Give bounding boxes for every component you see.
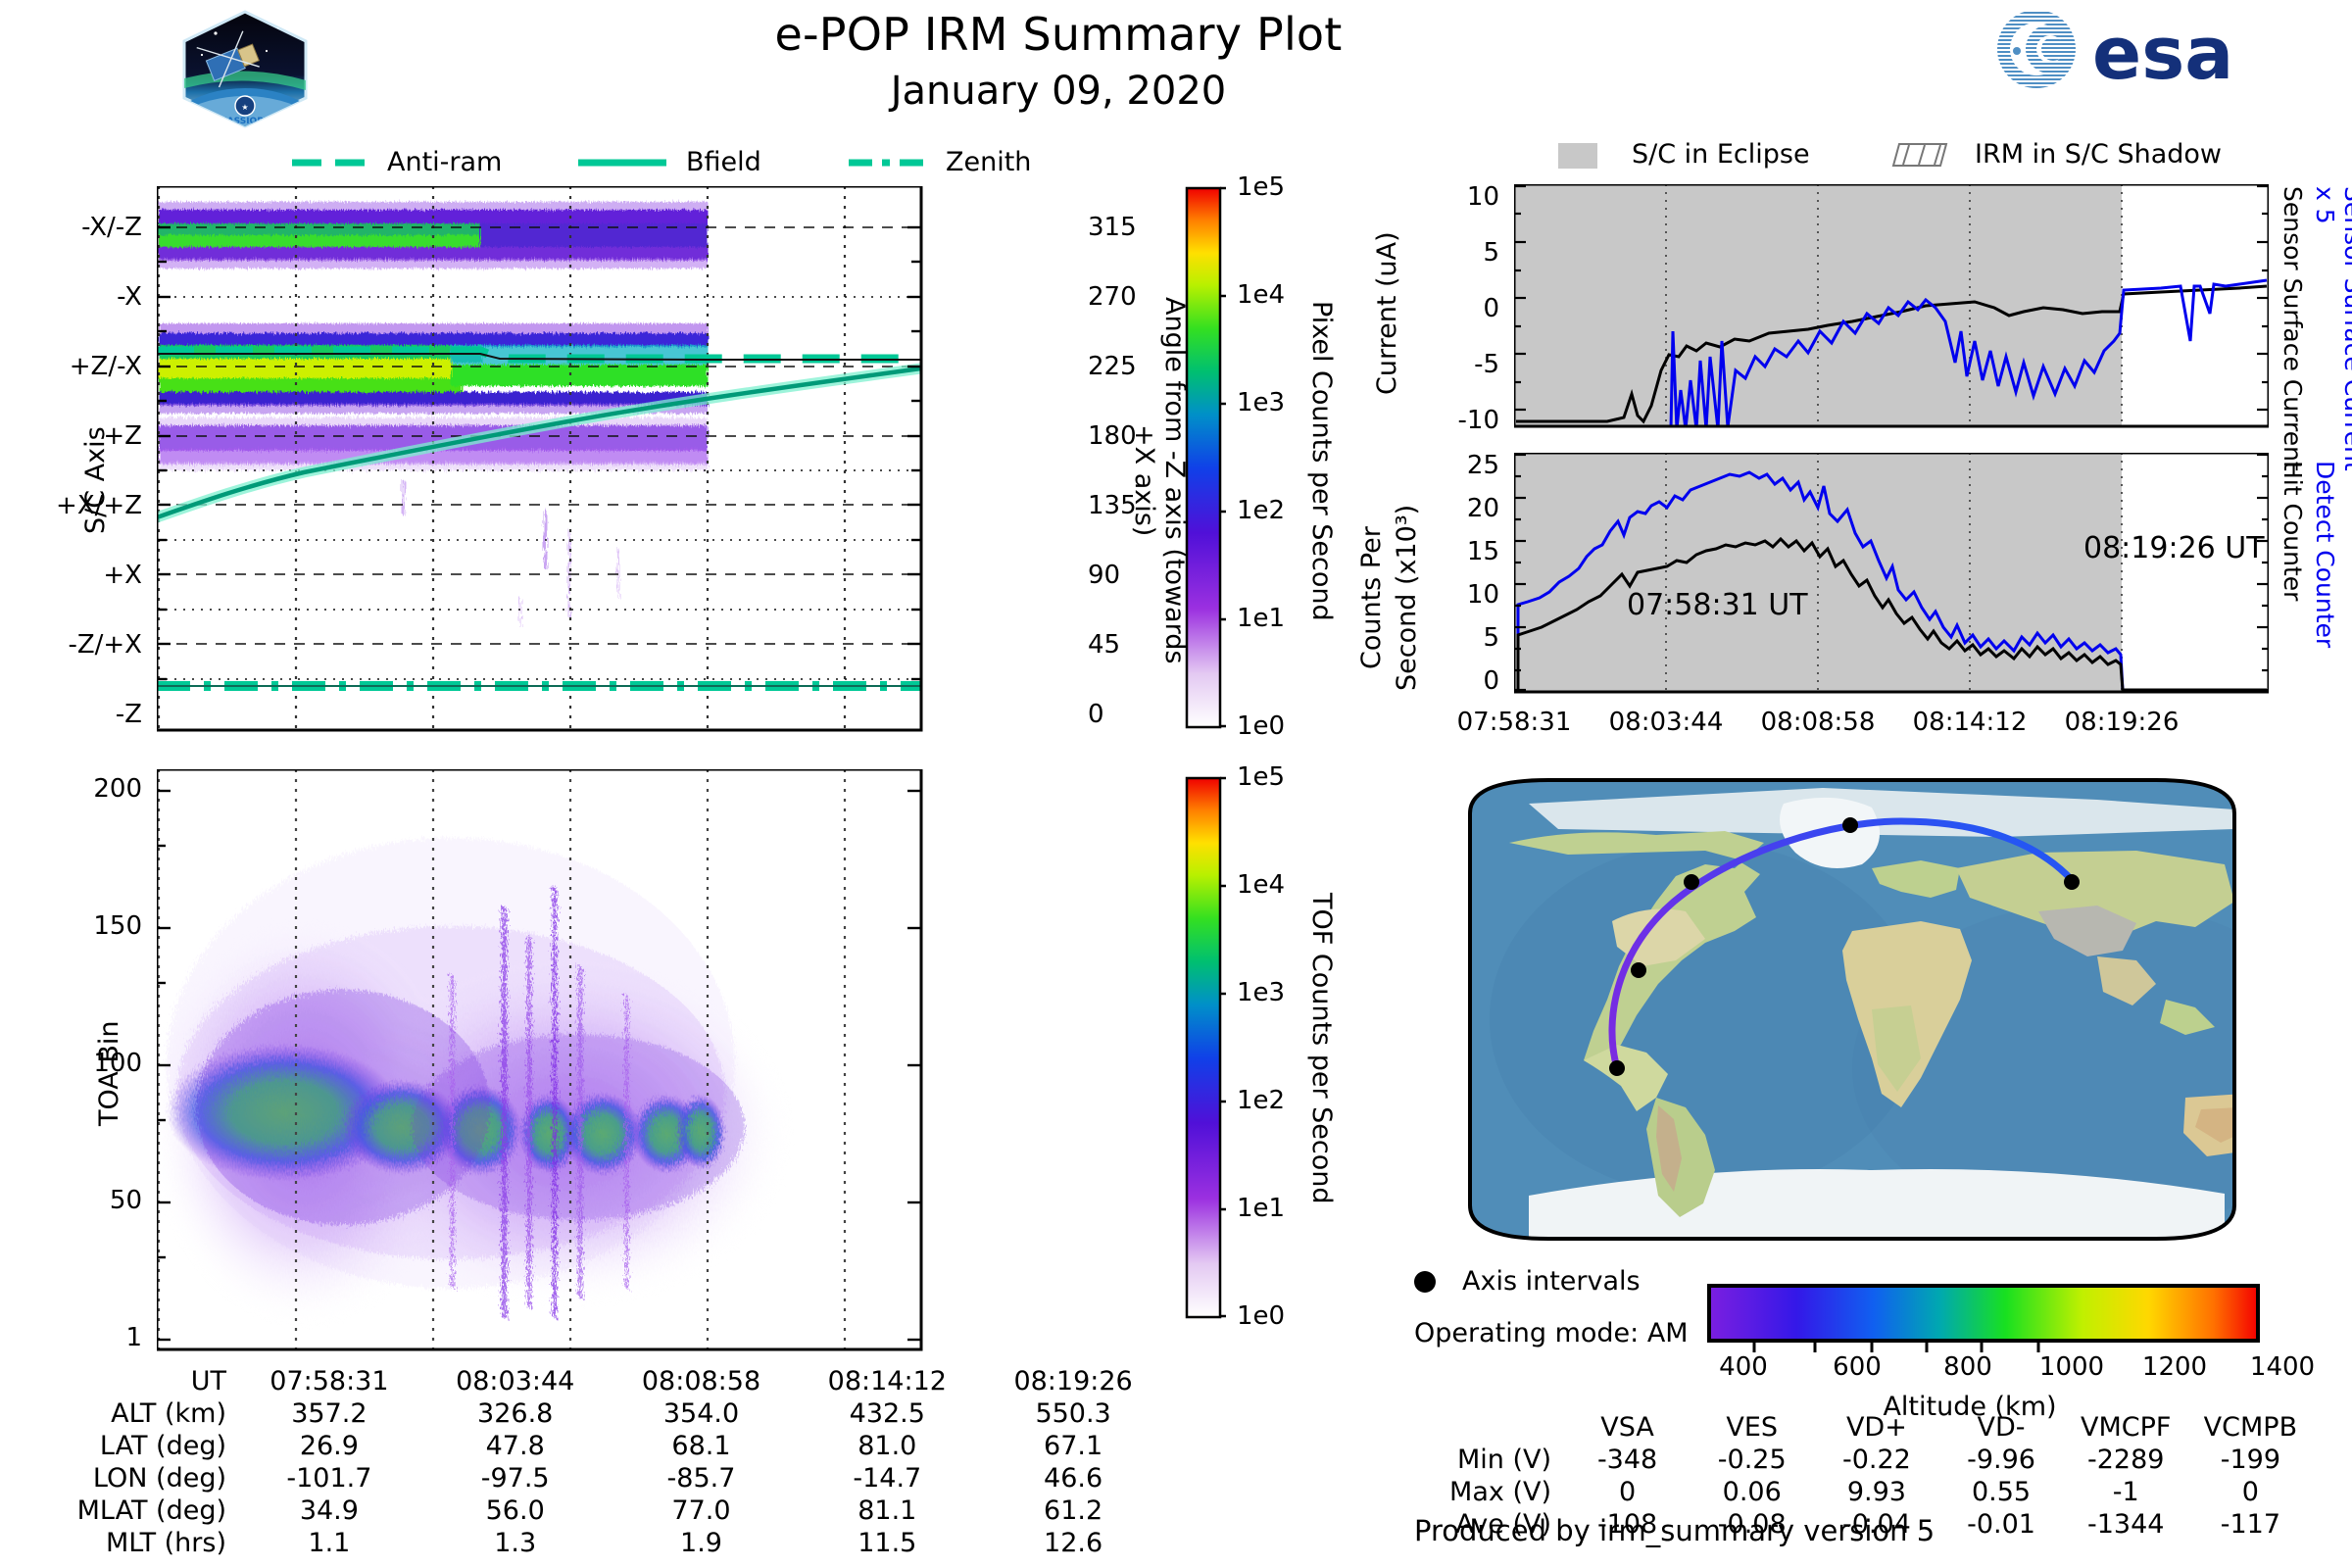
eph-cell: 1.9 [609,1527,795,1559]
operating-mode-label: Operating mode: AM [1414,1318,1689,1348]
voltage-cell: -0.22 [1814,1444,1938,1476]
angle-ytick-2: 225 [1088,352,1137,381]
sc-axis-ylabel: S/C Axis [80,392,116,568]
voltage-cell: 0 [1565,1476,1690,1508]
eph-row-label-1: ALT (km) [29,1397,236,1430]
page-title: e-POP IRM Summary Plot [686,8,1431,61]
table-row: LON (deg) -101.7 -97.5 -85.7 -14.7 46.6 [29,1462,1166,1494]
cb2-tick-3: 1e2 [1237,1086,1285,1115]
toa-ytick-2: 100 [59,1049,142,1078]
sc-axis-ytick-7: -Z [20,700,142,729]
angle-ytick-7: 0 [1088,700,1104,729]
eph-row-label-2: LAT (deg) [29,1430,236,1462]
eph-cell: 47.8 [422,1430,609,1462]
sc-axis-ytick-5: +X [20,561,142,590]
eph-cell: 08:19:26 [980,1365,1166,1397]
voltage-col-5: VCMPB [2188,1411,2313,1444]
sc-axis-spectrogram [157,186,1039,735]
eph-cell: 77.0 [609,1494,795,1527]
voltage-cell: -2289 [2064,1444,2188,1476]
cb2-tick-4: 1e1 [1237,1194,1285,1223]
voltage-cell: 0.06 [1690,1476,1814,1508]
toa-ytick-0: 200 [59,774,142,804]
toa-ytick-3: 50 [59,1186,142,1215]
toa-ytick-1: 150 [59,911,142,941]
voltage-cell: -1344 [2064,1508,2188,1541]
voltage-cell: 0.55 [1938,1476,2063,1508]
surface-current-plot [1514,184,2269,434]
cb1-tick-0: 1e5 [1237,172,1285,202]
sc-axis-ytick-0: -X/-Z [20,213,142,242]
eph-cell: 68.1 [609,1430,795,1462]
track-point [1842,817,1858,833]
eph-cell: 354.0 [609,1397,795,1430]
counts-per-second-plot [1514,453,2269,700]
svg-text:★: ★ [241,103,248,112]
sc-axis-ytick-3: +Z [20,421,142,451]
current-ytick-2: 0 [1431,294,1499,323]
voltage-cell: -0.01 [1938,1508,2063,1541]
page-subtitle-date: January 09, 2020 [686,69,1431,114]
time-tick-4: 08:19:26 [2019,708,2225,737]
current-right-label-black: Sensor Surface Current [2278,186,2307,480]
counts-ytick-2: 15 [1431,537,1499,566]
alt-tick-1: 600 [1803,1352,1911,1382]
axis-intervals-legend-label: Axis intervals [1462,1266,1641,1297]
angle-ytick-0: 315 [1088,213,1137,242]
alt-tick-0: 400 [1690,1352,1797,1382]
current-ytick-3: -5 [1423,350,1499,379]
sc-axis-ytick-6: -Z/+X [20,630,142,660]
cb2-tick-1: 1e4 [1237,870,1285,900]
eph-cell: 08:08:58 [609,1365,795,1397]
alt-tick-4: 1200 [2121,1352,2229,1382]
sc-axis-ytick-2: +Z/-X [20,352,142,381]
cb2-label: TOF Counts per Second [1303,774,1337,1323]
pixel-counts-colorbar [1181,184,1226,733]
voltage-col-3: VD- [1938,1411,2063,1444]
voltage-cell: 9.93 [1814,1476,1938,1508]
table-row: LAT (deg) 26.9 47.8 68.1 81.0 67.1 [29,1430,1166,1462]
voltage-row-label-0: Min (V) [1392,1444,1565,1476]
esa-wordmark: esa [2092,12,2233,94]
counts-ytick-0: 25 [1431,451,1499,480]
eph-row-label-4: MLAT (deg) [29,1494,236,1527]
shadow-swatch [1891,140,1948,170]
voltage-cell: -117 [2188,1508,2313,1541]
eph-cell: 1.1 [236,1527,422,1559]
ephemeris-table: UT 07:58:31 08:03:44 08:08:58 08:14:12 0… [29,1365,1166,1559]
eph-cell: 61.2 [980,1494,1166,1527]
toa-ytick-4: 1 [59,1323,142,1352]
cassiope-logo: ★ CASSIOPE [176,8,314,130]
eph-cell: -14.7 [794,1462,980,1494]
axis-interval-marker-icon [1414,1271,1436,1293]
voltage-cell: -1 [2064,1476,2188,1508]
table-row: MLAT (deg) 34.9 56.0 77.0 81.1 61.2 [29,1494,1166,1527]
current-ytick-4: -10 [1423,406,1499,435]
eph-cell: 1.3 [422,1527,609,1559]
map-start-label: 07:58:31 UT [1627,588,1808,622]
altitude-colorbar [1705,1284,2313,1352]
voltage-col-0: VSA [1565,1411,1690,1444]
counts-ytick-5: 0 [1431,666,1499,696]
table-row: Min (V) -348 -0.25 -0.22 -9.96 -2289 -19… [1392,1444,2313,1476]
legend-label-anti-ram: Anti-ram [387,147,502,177]
voltage-col-4: VMCPF [2064,1411,2188,1444]
cb2-tick-5: 1e0 [1237,1301,1285,1331]
angle-ytick-6: 45 [1088,630,1120,660]
eph-cell: 550.3 [980,1397,1166,1430]
cb2-tick-0: 1e5 [1237,762,1285,792]
eclipse-swatch [1558,143,1597,169]
table-row: ALT (km) 357.2 326.8 354.0 432.5 550.3 [29,1397,1166,1430]
cassiope-logo-text: CASSIOPE [220,117,269,126]
cb1-tick-1: 1e4 [1237,280,1285,310]
voltage-col-1: VES [1690,1411,1814,1444]
counts-ylabel: Counts Per Second (x10³) [1354,485,1423,710]
toa-bin-spectrogram [157,769,1039,1357]
legend-label-zenith: Zenith [946,147,1031,177]
voltage-col-2: VD+ [1814,1411,1938,1444]
eph-cell: 432.5 [794,1397,980,1430]
eph-cell: 56.0 [422,1494,609,1527]
voltage-cell: -199 [2188,1444,2313,1476]
voltage-cell: 0 [2188,1476,2313,1508]
table-row: UT 07:58:31 08:03:44 08:08:58 08:14:12 0… [29,1365,1166,1397]
track-point-end [2064,874,2080,890]
voltage-row-label-1: Max (V) [1392,1476,1565,1508]
eph-cell: -101.7 [236,1462,422,1494]
cb1-tick-5: 1e0 [1237,711,1285,741]
table-row: MLT (hrs) 1.1 1.3 1.9 11.5 12.6 [29,1527,1166,1559]
track-point [1631,962,1646,978]
legend-label-bfield: Bfield [686,147,761,177]
current-ylabel: Current (uA) [1372,206,1405,421]
eclipse-legend-label: S/C in Eclipse [1632,139,1810,170]
voltage-cell: -348 [1565,1444,1690,1476]
eph-cell: -97.5 [422,1462,609,1494]
counts-ytick-4: 5 [1431,623,1499,653]
shadow-legend-label: IRM in S/C Shadow [1975,139,2222,170]
current-ytick-1: 5 [1431,238,1499,268]
counts-right-label-blue: Detect Counter [2311,461,2339,706]
cb2-tick-2: 1e3 [1237,978,1285,1007]
sc-axis-ytick-4: +X/+Z [20,491,142,520]
eph-cell: 81.0 [794,1430,980,1462]
alt-tick-5: 1400 [2229,1352,2336,1382]
eph-cell: 46.6 [980,1462,1166,1494]
table-row: Max (V) 0 0.06 9.93 0.55 -1 0 [1392,1476,2313,1508]
eph-cell: 67.1 [980,1430,1166,1462]
eph-row-label-5: MLT (hrs) [29,1527,236,1559]
current-right-label-blue: Sensor Surface Current x 5 [2311,186,2352,480]
eph-row-label-3: LON (deg) [29,1462,236,1494]
cb1-tick-3: 1e2 [1237,496,1285,525]
angle-ytick-5: 90 [1088,561,1120,590]
track-point [1684,874,1699,890]
eph-cell: 81.1 [794,1494,980,1527]
track-point-start [1609,1060,1625,1076]
esa-logo: esa [1980,4,2323,94]
eph-cell: 08:03:44 [422,1365,609,1397]
cb1-tick-2: 1e3 [1237,388,1285,417]
counts-ytick-3: 10 [1431,580,1499,610]
cb1-label: Pixel Counts per Second [1303,186,1337,735]
eph-cell: 34.9 [236,1494,422,1527]
alt-tick-2: 800 [1914,1352,2022,1382]
eph-cell: -85.7 [609,1462,795,1494]
ground-track-map [1411,774,2293,1245]
angle-ytick-1: 270 [1088,282,1137,312]
voltage-cell: -0.25 [1690,1444,1814,1476]
alt-tick-3: 1000 [2018,1352,2126,1382]
cb1-tick-4: 1e1 [1237,604,1285,633]
eph-cell: 07:58:31 [236,1365,422,1397]
map-end-label: 08:19:26 UT [2083,531,2265,565]
sc-axis-ytick-1: -X [20,282,142,312]
tof-counts-colorbar [1181,774,1226,1323]
counts-ytick-1: 20 [1431,494,1499,523]
voltage-cell: -9.96 [1938,1444,2063,1476]
current-ytick-0: 10 [1431,182,1499,212]
table-row: VSA VES VD+ VD- VMCPF VCMPB [1392,1411,2313,1444]
eph-cell: 26.9 [236,1430,422,1462]
eph-cell: 08:14:12 [794,1365,980,1397]
eph-cell: 326.8 [422,1397,609,1430]
produced-by-footer: Produced by irm_summary version 5 [1414,1514,1935,1547]
eph-cell: 12.6 [980,1527,1166,1559]
counts-right-label-black: Hit Counter [2278,461,2307,706]
eph-cell: 11.5 [794,1527,980,1559]
eph-cell: 357.2 [236,1397,422,1430]
eph-row-label-0: UT [29,1365,236,1397]
